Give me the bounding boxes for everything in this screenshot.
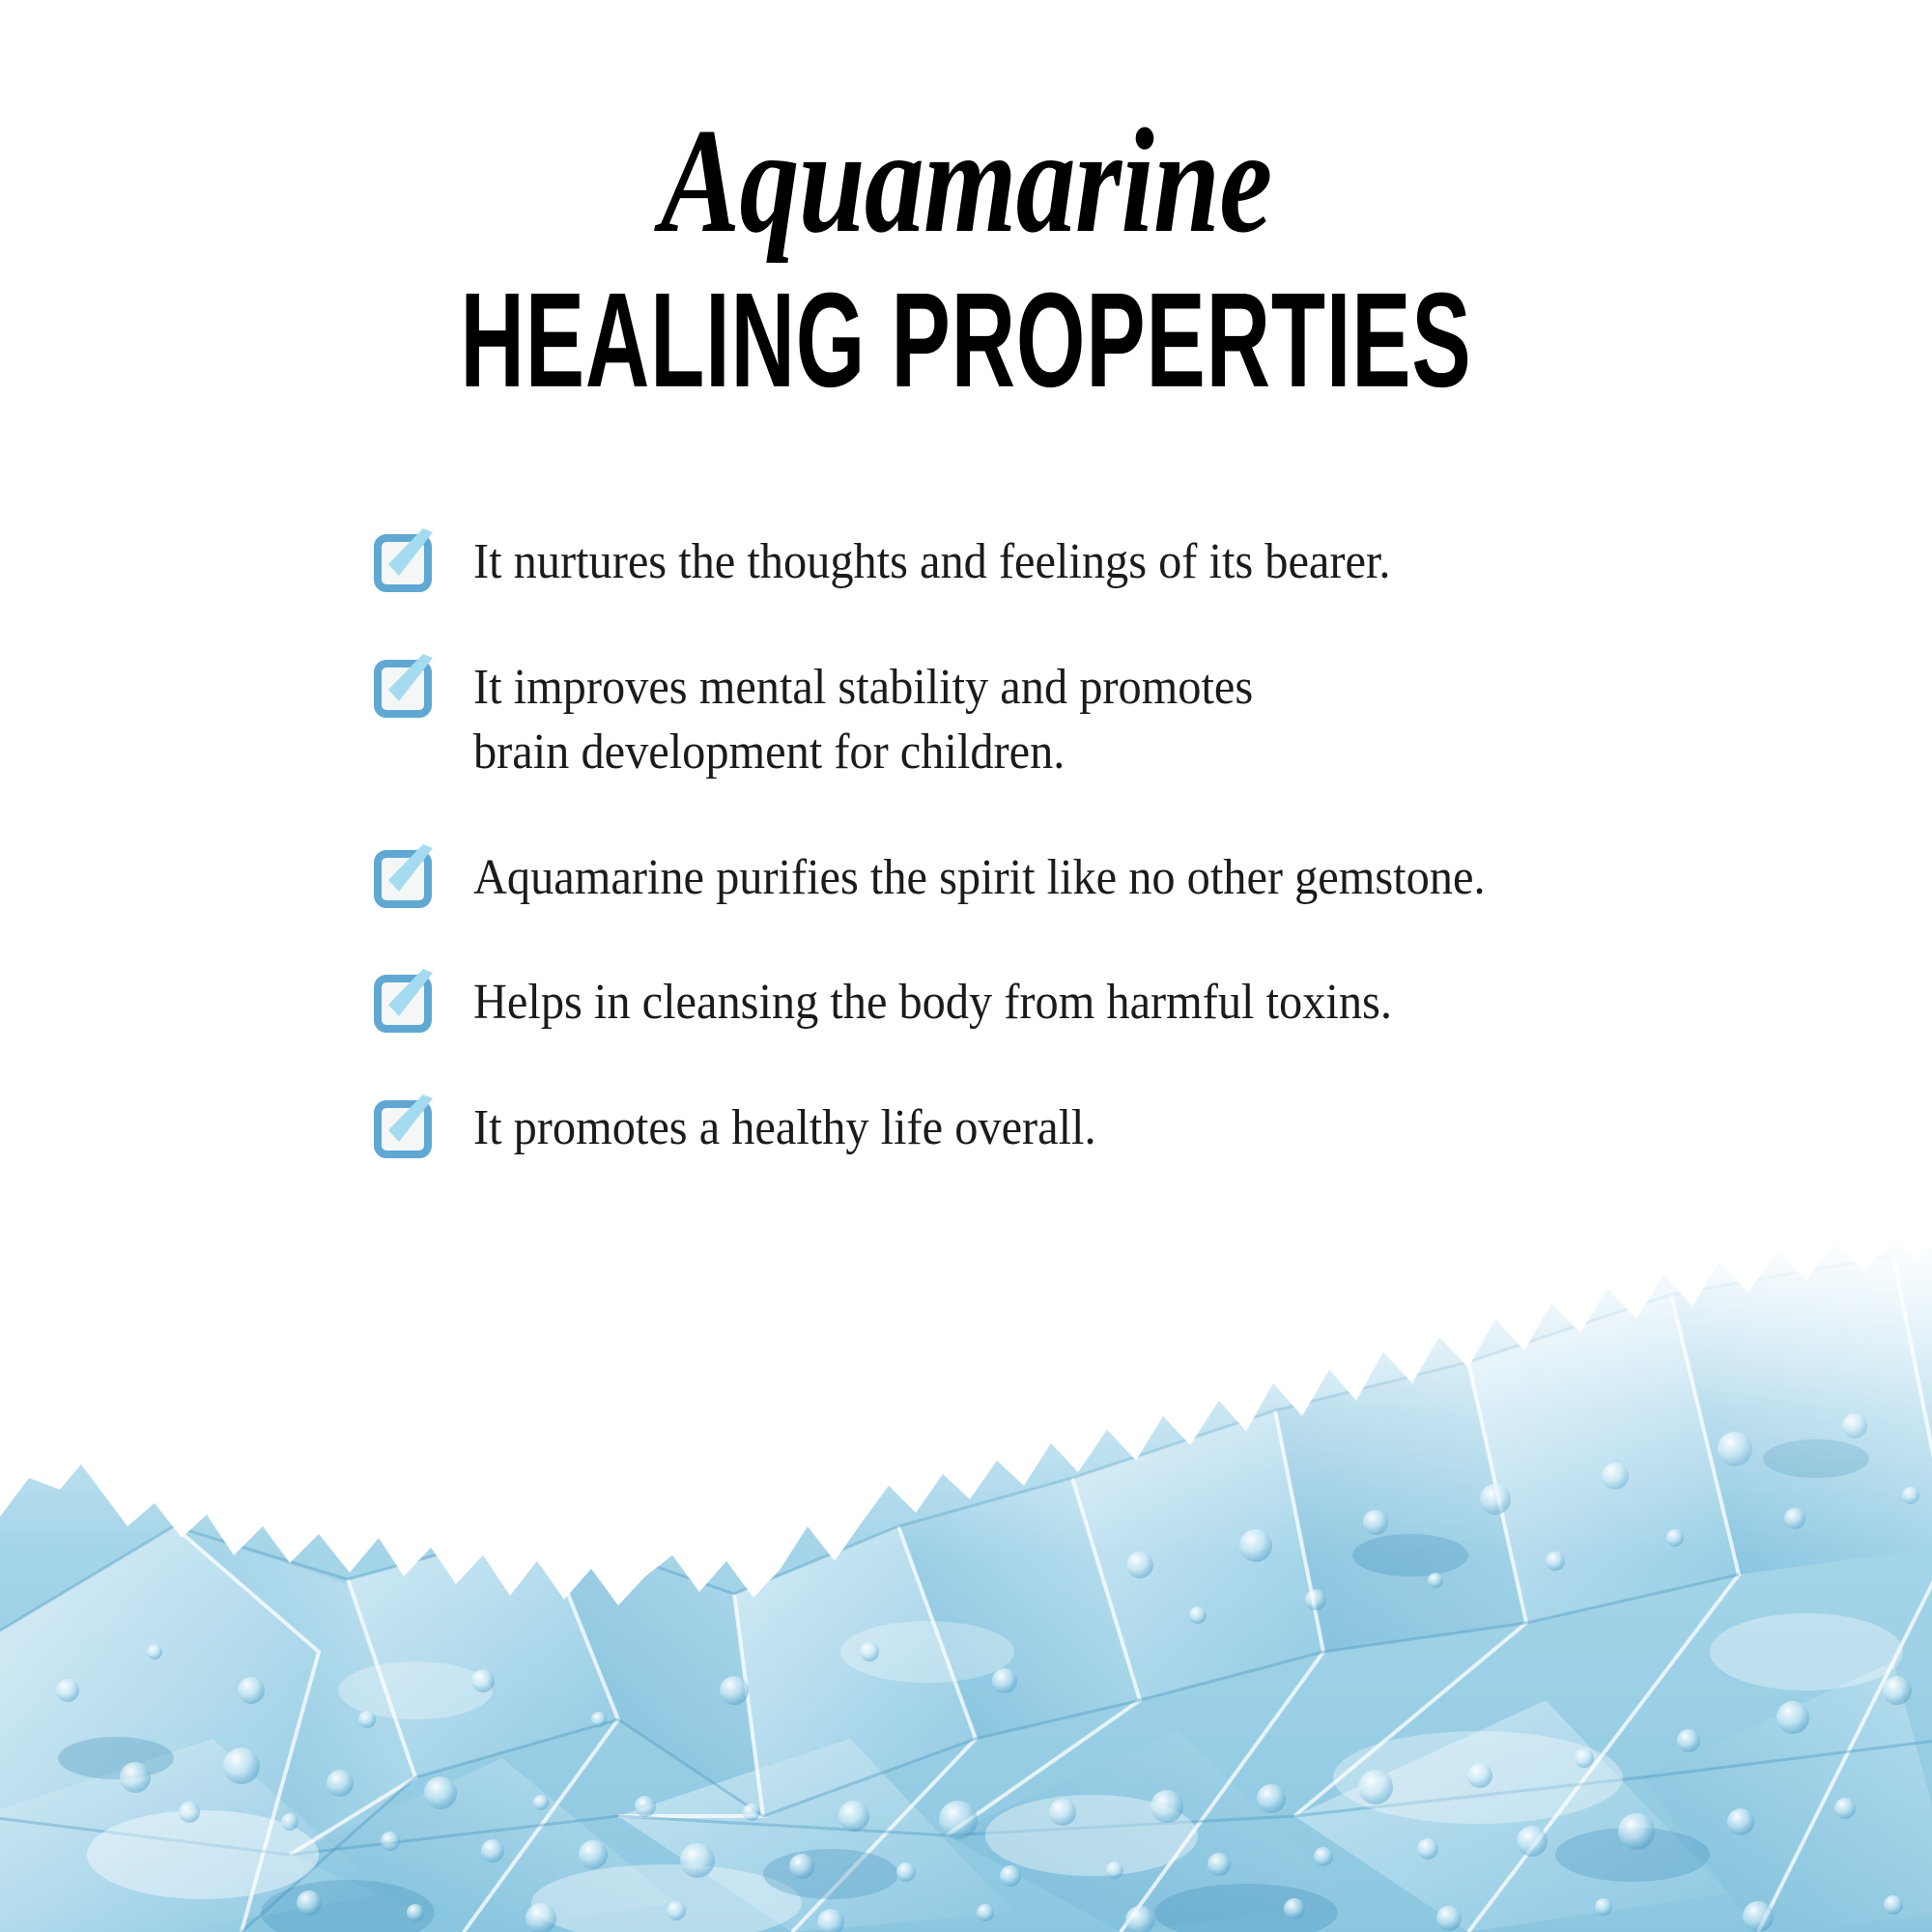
list-item: It promotes a healthy life overall. [375,1095,1824,1161]
poster-canvas: Aquamarine HEALING PROPERTIES It nurture… [0,0,1932,1932]
poster-header: Aquamarine HEALING PROPERTIES [0,0,1932,387]
list-item-label: It promotes a healthy life overall. [473,1095,1096,1161]
list-item: It nurtures the thoughts and feelings of… [375,529,1824,595]
page-title: Aquamarine [193,106,1739,256]
list-item: It improves mental stability and promote… [375,655,1824,785]
ice-cubes-photo [0,1236,1932,1932]
checkbox-checked-icon [375,974,431,1030]
list-item: Aquamarine purifies the spirit like no o… [375,845,1824,911]
healing-properties-list: It nurtures the thoughts and feelings of… [375,529,1824,1161]
list-item-label: Helps in cleansing the body from harmful… [473,970,1392,1036]
checkbox-checked-icon [375,659,431,715]
list-item-label: It nurtures the thoughts and feelings of… [473,529,1391,595]
list-item: Helps in cleansing the body from harmful… [375,970,1824,1036]
page-subtitle: HEALING PROPERTIES [213,273,1719,408]
checkbox-checked-icon [375,1099,431,1155]
checkbox-checked-icon [375,849,431,905]
list-item-label: Aquamarine purifies the spirit like no o… [473,845,1486,911]
list-item-label: It improves mental stability and promote… [473,655,1253,785]
checkbox-checked-icon [375,533,431,589]
